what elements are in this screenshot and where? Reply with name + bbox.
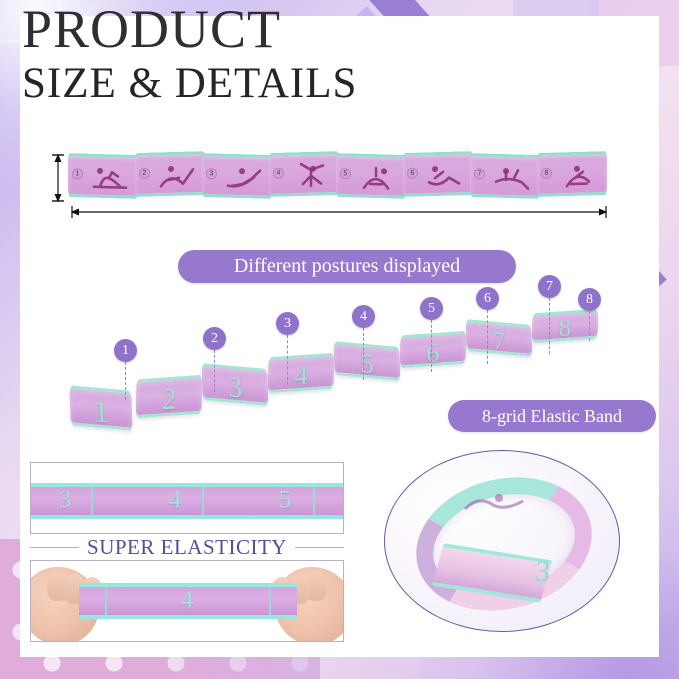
- callout-leader-line: [487, 310, 488, 364]
- callout-bubble: 1: [114, 339, 137, 362]
- band-segment-number: 3: [206, 168, 217, 179]
- yoga-pose-icon: [425, 161, 465, 188]
- band-segment-8: 8: [537, 151, 607, 197]
- callout-bubble: 5: [420, 297, 443, 320]
- product-band-flat-view: 12345678: [68, 152, 606, 204]
- band-segment-5: 5: [336, 153, 406, 199]
- perspective-band-segment-1: 1: [69, 385, 132, 431]
- band-segment-number: 6: [407, 168, 418, 179]
- perspective-band-segment-3: 3: [201, 363, 268, 406]
- callout-bubble: 3: [276, 312, 299, 335]
- badge-8-grid-elastic-band: 8-grid Elastic Band: [448, 400, 656, 432]
- photo-band-segments-closeup: 345: [30, 462, 344, 534]
- yoga-pose-icon: [358, 164, 398, 191]
- yoga-pose-icon: [90, 164, 130, 191]
- band-strip: 345: [30, 483, 344, 519]
- yoga-pose-icon: [291, 161, 331, 188]
- segment-divider: [202, 487, 204, 515]
- yoga-pose-icon: [157, 161, 197, 188]
- photo-band-stretch-demo: 4: [30, 560, 344, 642]
- caption-rule-right: [295, 547, 344, 548]
- band-segment-number: 2: [139, 168, 150, 179]
- band-segment-number: 7: [474, 168, 485, 179]
- segment-divider: [91, 487, 93, 515]
- badge-different-postures: Different postures displayed: [178, 250, 516, 283]
- yoga-pose-icon: [559, 161, 599, 188]
- band-printed-number: 1: [93, 393, 110, 430]
- perspective-band-segment-4: 4: [268, 353, 335, 393]
- band-printed-number: 3: [227, 371, 243, 405]
- photo-band-loop-closeup: 3: [384, 450, 620, 632]
- callout-leader-line: [431, 320, 432, 372]
- segment-divider: [105, 587, 107, 615]
- band-segment-6: 6: [403, 151, 473, 197]
- page-subtitle: SIZE & DETAILS: [22, 62, 357, 105]
- perspective-band-segment-2: 2: [136, 375, 203, 418]
- callout-bubble: 8: [578, 288, 601, 311]
- segment-divider: [313, 487, 315, 515]
- page-title: PRODUCT: [22, 2, 281, 56]
- callout-leader-line: [214, 350, 215, 392]
- band-segment-4: 4: [269, 151, 339, 197]
- yoga-pose-icon: [459, 487, 529, 515]
- callout-bubble: 2: [203, 327, 226, 350]
- photo-segment-number: 3: [59, 486, 72, 514]
- photo-segment-number: 4: [181, 586, 194, 614]
- callout-leader-line: [287, 335, 288, 385]
- band-printed-number: 4: [294, 360, 309, 393]
- callout-leader-line: [589, 311, 590, 341]
- photo-segment-number: 4: [169, 486, 182, 514]
- segment-divider: [269, 587, 271, 615]
- yoga-pose-icon: [492, 164, 532, 191]
- band-segment-number: 5: [340, 168, 351, 179]
- band-printed-number: 6: [426, 337, 440, 369]
- band-printed-number: 7: [492, 325, 506, 356]
- super-elasticity-text: SUPER ELASTICITY: [87, 535, 287, 560]
- caption-rule-left: [30, 547, 79, 548]
- yoga-pose-icon: [224, 164, 264, 191]
- band-segment-7: 7: [470, 153, 540, 199]
- super-elasticity-caption: SUPER ELASTICITY: [30, 534, 344, 560]
- callout-leader-line: [363, 328, 364, 380]
- band-segment-2: 2: [135, 151, 205, 197]
- band-printed-number: 8: [559, 314, 572, 343]
- band-printed-number: 2: [161, 382, 177, 418]
- callout-bubble: 7: [538, 275, 561, 298]
- callout-bubble: 4: [352, 305, 375, 328]
- callout-leader-line: [549, 298, 550, 354]
- perspective-band-segment-7: 7: [465, 319, 532, 357]
- band-segment-number: 1: [72, 168, 83, 179]
- callout-bubble: 6: [476, 287, 499, 310]
- band-loop: [402, 459, 606, 628]
- perspective-band-segment-6: 6: [400, 331, 467, 369]
- band-segment-number: 4: [273, 168, 284, 179]
- band-segment-1: 1: [68, 153, 138, 199]
- perspective-band-segment-5: 5: [333, 341, 400, 381]
- band-segment-3: 3: [202, 153, 272, 199]
- callout-leader-line: [125, 362, 126, 400]
- band-segment-number: 8: [541, 168, 552, 179]
- band-printed-number: 5: [360, 348, 375, 380]
- band-strip-stretched: 4: [79, 583, 297, 619]
- photo-segment-number: 5: [279, 486, 292, 514]
